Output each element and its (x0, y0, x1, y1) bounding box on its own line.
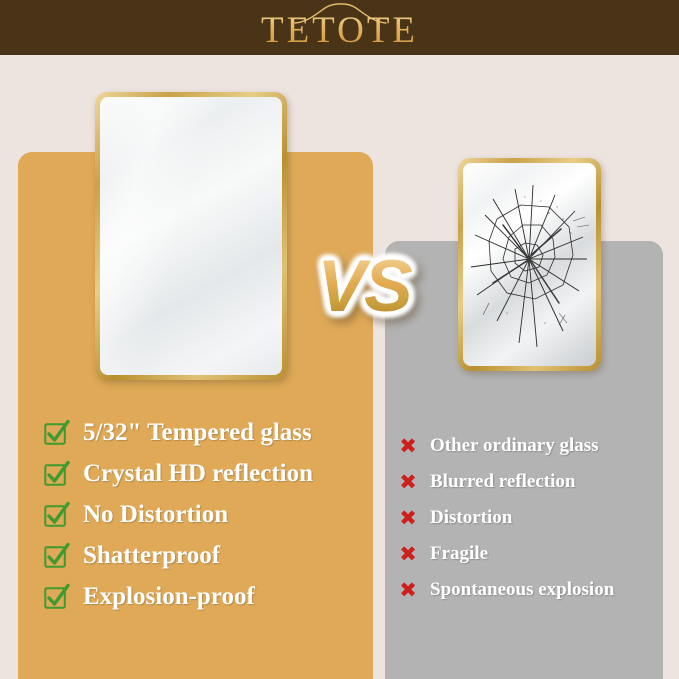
list-item: ✖ Blurred reflection (398, 464, 668, 500)
drawback-label: Fragile (430, 542, 488, 566)
feature-label: No Distortion (83, 500, 228, 530)
red-cross-icon: ✖ (398, 579, 418, 601)
crack-pattern-icon (463, 163, 596, 366)
red-cross-icon: ✖ (398, 435, 418, 457)
red-cross-icon: ✖ (398, 507, 418, 529)
drawback-label: Distortion (430, 506, 512, 530)
list-item: Explosion-proof (44, 576, 374, 617)
drawback-label: Other ordinary glass (430, 434, 599, 458)
bad-feature-list: ✖ Other ordinary glass ✖ Blurred reflect… (398, 428, 668, 608)
red-cross-icon: ✖ (398, 543, 418, 565)
brand-header: TETOTE (0, 0, 679, 55)
versus-badge: VS (310, 248, 418, 326)
feature-label: Shatterproof (83, 541, 220, 571)
green-check-icon (44, 543, 69, 568)
list-item: No Distortion (44, 494, 374, 535)
ordinary-glass-mirror-image (458, 158, 601, 371)
list-item: Crystal HD reflection (44, 453, 374, 494)
feature-label: 5/32" Tempered glass (83, 418, 312, 448)
brand-name: TETOTE (0, 9, 679, 53)
green-check-icon (44, 420, 69, 445)
feature-label: Explosion-proof (83, 582, 255, 612)
clear-mirror-glass (100, 97, 282, 375)
shattered-mirror-glass (463, 163, 596, 366)
good-feature-list: 5/32" Tempered glass Crystal HD reflecti… (44, 412, 374, 617)
green-check-icon (44, 584, 69, 609)
drawback-label: Blurred reflection (430, 470, 575, 494)
list-item: ✖ Distortion (398, 500, 668, 536)
list-item: ✖ Other ordinary glass (398, 428, 668, 464)
infographic-page: TETOTE (0, 0, 679, 679)
list-item: ✖ Fragile (398, 536, 668, 572)
green-check-icon (44, 461, 69, 486)
list-item: Shatterproof (44, 535, 374, 576)
list-item: ✖ Spontaneous explosion (398, 572, 668, 608)
green-check-icon (44, 502, 69, 527)
drawback-label: Spontaneous explosion (430, 578, 614, 602)
tempered-glass-mirror-image (95, 92, 287, 380)
brand-logo: TETOTE (0, 0, 679, 55)
list-item: 5/32" Tempered glass (44, 412, 374, 453)
red-cross-icon: ✖ (398, 471, 418, 493)
feature-label: Crystal HD reflection (83, 459, 313, 489)
